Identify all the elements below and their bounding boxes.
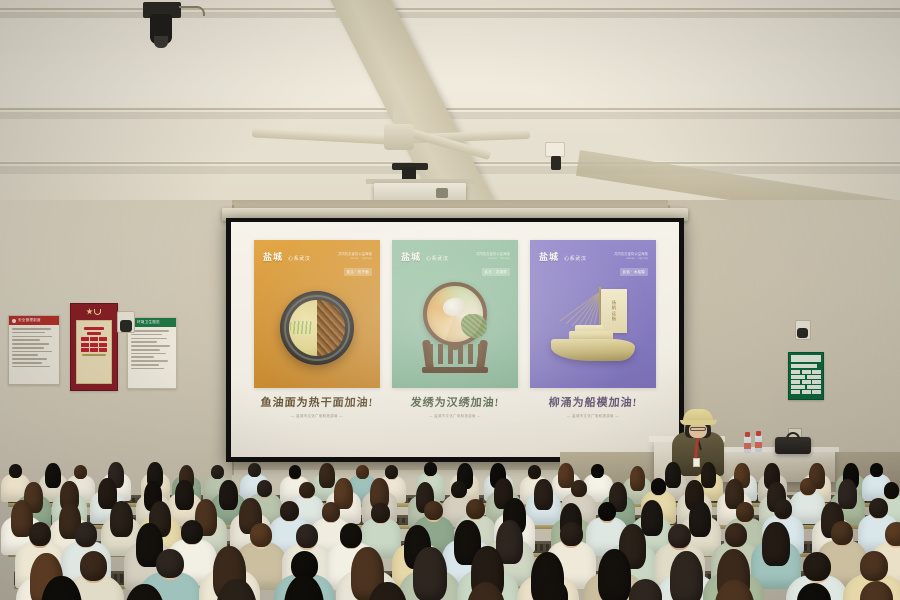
poster-3-brand-sub: 心系武汉 <box>564 255 586 262</box>
audience-hair <box>668 524 690 548</box>
audience-hair <box>571 480 586 497</box>
poster-1-brand-sub: 心系武汉 <box>288 255 310 262</box>
audience-hair <box>860 581 894 600</box>
audience-hair <box>322 502 340 522</box>
audience-hair <box>860 551 887 581</box>
audience-hair <box>9 464 22 478</box>
audience-hair <box>885 522 900 546</box>
poster-2-meta-line2: wuhan · fighting <box>476 257 510 260</box>
audience-hair <box>451 481 466 498</box>
poster-2-logo: 盐城 心系武汉 <box>401 250 448 263</box>
audience-hair <box>74 465 87 479</box>
ceiling-fan-icon <box>300 118 500 158</box>
black-bag <box>775 437 811 454</box>
audience-hair <box>299 482 314 499</box>
audience-member <box>269 573 353 600</box>
audience-hair <box>725 523 747 547</box>
audience-hair <box>831 521 853 545</box>
audience-hair <box>216 579 257 600</box>
poster-2-tag: 民艺 · 发绣屏 <box>482 268 510 276</box>
audience-hair <box>591 464 604 478</box>
audience-hair <box>296 524 318 548</box>
audience-hair <box>466 582 507 600</box>
poster-column-3: 盐城 心系武汉 共同抗击疫情公益海报 wuhan · fighting 民俗 ·… <box>530 240 656 418</box>
poster-3-caption-block: 柳涌为船模加油! — 盐城市文化广电和旅游局 — <box>530 394 656 418</box>
poster-3-tag: 民俗 · 木船模 <box>620 268 648 276</box>
presentation-slide: 盐城 心系武汉 共同抗击疫情公益海报 wuhan · fighting 民生 ·… <box>231 222 679 457</box>
left-wall-speaker-icon <box>117 311 135 333</box>
poster-2-caption-block: 发绣为汉绣加油! — 盐城市文化广电和旅游局 — <box>392 394 518 418</box>
poster-3-caption-sub: — 盐城市文化广电和旅游局 — <box>530 413 656 418</box>
audience-hair <box>870 463 883 477</box>
audience-member <box>27 574 111 600</box>
audience-hair <box>535 578 569 600</box>
poster-2-brand-sub: 心系武汉 <box>426 255 448 262</box>
poster-3-meta-line1: 共同抗击疫情公益海报 <box>614 251 648 256</box>
poster-2-meta: 共同抗击疫情公益海报 wuhan · fighting 民艺 · 发绣屏 <box>476 251 510 278</box>
lecture-hall-photo: 安全管理制度 环境卫生规范 <box>0 0 900 600</box>
audience-hair <box>803 552 830 582</box>
audience-hair <box>257 480 272 497</box>
audience-hair <box>211 465 224 479</box>
poster-1-meta-line1: 共同抗击疫情公益海报 <box>338 251 372 256</box>
audience-hair <box>371 503 389 523</box>
audience-hair <box>75 522 97 546</box>
poster-1-brand: 盐城 <box>263 250 283 263</box>
audience-member <box>699 579 783 600</box>
audience-hair <box>41 576 82 600</box>
poster-column-2: 盐城 心系武汉 共同抗击疫情公益海报 wuhan · fighting 民艺 ·… <box>392 240 518 418</box>
sail-char: 航 <box>612 317 616 321</box>
audience-hair <box>289 465 302 479</box>
poster-2: 盐城 心系武汉 共同抗击疫情公益海报 wuhan · fighting 民艺 ·… <box>392 240 518 388</box>
water-bottle-2 <box>755 435 762 452</box>
poster-1-artwork-noodle-bowl-icon <box>254 278 380 378</box>
notice-red-header: 安全管理制度 <box>18 318 41 323</box>
poster-3-artwork-sailboat-icon: 扬帆远航 <box>530 278 656 378</box>
wall-camera-icon <box>545 142 567 172</box>
evacuation-sign <box>788 352 824 400</box>
audience-hair <box>367 582 408 600</box>
poster-1-tag: 民生 · 热干面 <box>344 268 372 276</box>
audience-member <box>353 580 437 600</box>
audience-hair <box>248 463 261 477</box>
audience-hair <box>280 501 298 521</box>
audience-member <box>516 576 600 600</box>
audience-hair <box>651 478 666 495</box>
audience-member <box>841 579 900 600</box>
track-spotlight-icon <box>139 2 183 54</box>
audience-hair <box>124 584 165 600</box>
poster-1: 盐城 心系武汉 共同抗击疫情公益海报 wuhan · fighting 民生 ·… <box>254 240 380 388</box>
audience-hair <box>181 520 203 544</box>
audience-hair <box>424 462 437 476</box>
audience-hair <box>869 498 887 518</box>
sail-char: 帆 <box>612 306 616 310</box>
audience-hair <box>560 522 582 546</box>
audience-member <box>109 582 193 600</box>
audience-hair <box>284 575 325 600</box>
audience-hair <box>598 502 616 522</box>
audience-hair <box>340 523 362 547</box>
poster-2-meta-line1: 共同抗击疫情公益海报 <box>476 251 510 256</box>
right-wall-speaker-icon <box>795 320 811 340</box>
poster-1-caption-sub: — 盐城市文化广电和旅游局 — <box>254 413 380 418</box>
notice-board-certificate <box>70 303 118 391</box>
poster-2-artwork-embroidery-screen-icon <box>392 278 518 378</box>
audience-hair <box>797 583 831 600</box>
audience-hair <box>800 478 815 495</box>
poster-3-meta: 共同抗击疫情公益海报 wuhan · fighting 民俗 · 木船模 <box>614 251 648 278</box>
poster-3-meta-line2: wuhan · fighting <box>614 257 648 260</box>
poster-2-caption-sub: — 盐城市文化广电和旅游局 — <box>392 413 518 418</box>
audience-hair <box>774 499 792 519</box>
notice-board-red: 安全管理制度 <box>8 315 60 385</box>
audience-hair <box>629 579 663 600</box>
audience-hair <box>736 502 754 522</box>
seated-audience <box>0 455 900 600</box>
poster-1-logo: 盐城 心系武汉 <box>263 250 310 263</box>
audience-hair <box>156 549 183 579</box>
poster-3-logo: 盐城 心系武汉 <box>539 250 586 263</box>
poster-1-meta-line2: wuhan · fighting <box>338 257 372 260</box>
poster-1-meta: 共同抗击疫情公益海报 wuhan · fighting 民生 · 热干面 <box>338 251 372 278</box>
audience-hair <box>424 501 442 521</box>
poster-2-caption: 发绣为汉绣加油! <box>391 394 518 410</box>
poster-3-caption: 柳涌为船模加油! <box>529 394 656 410</box>
audience-hair <box>29 522 51 546</box>
certificate-emblem-icon <box>86 307 102 316</box>
audience-member <box>610 577 694 600</box>
poster-3-brand: 盐城 <box>539 250 559 263</box>
audience-hair <box>528 465 541 479</box>
glasses-icon <box>690 427 706 431</box>
audience-hair <box>466 499 484 519</box>
projection-screen[interactable]: 盐城 心系武汉 共同抗击疫情公益海报 wuhan · fighting 民生 ·… <box>231 222 679 457</box>
poster-2-brand: 盐城 <box>401 250 421 263</box>
notice-green-header: 环境卫生规范 <box>137 320 160 325</box>
sail-text: 扬帆远航 <box>601 289 627 333</box>
poster-1-caption-block: 鱼油面为热干面加油! — 盐城市文化广电和旅游局 — <box>254 394 380 418</box>
poster-3: 盐城 心系武汉 共同抗击疫情公益海报 wuhan · fighting 民俗 ·… <box>530 240 656 388</box>
poster-column-1: 盐城 心系武汉 共同抗击疫情公益海报 wuhan · fighting 民生 ·… <box>254 240 380 418</box>
poster-1-caption: 鱼油面为热干面加油! <box>253 394 380 410</box>
audience-hair <box>714 580 755 600</box>
water-bottle-1 <box>744 436 751 453</box>
